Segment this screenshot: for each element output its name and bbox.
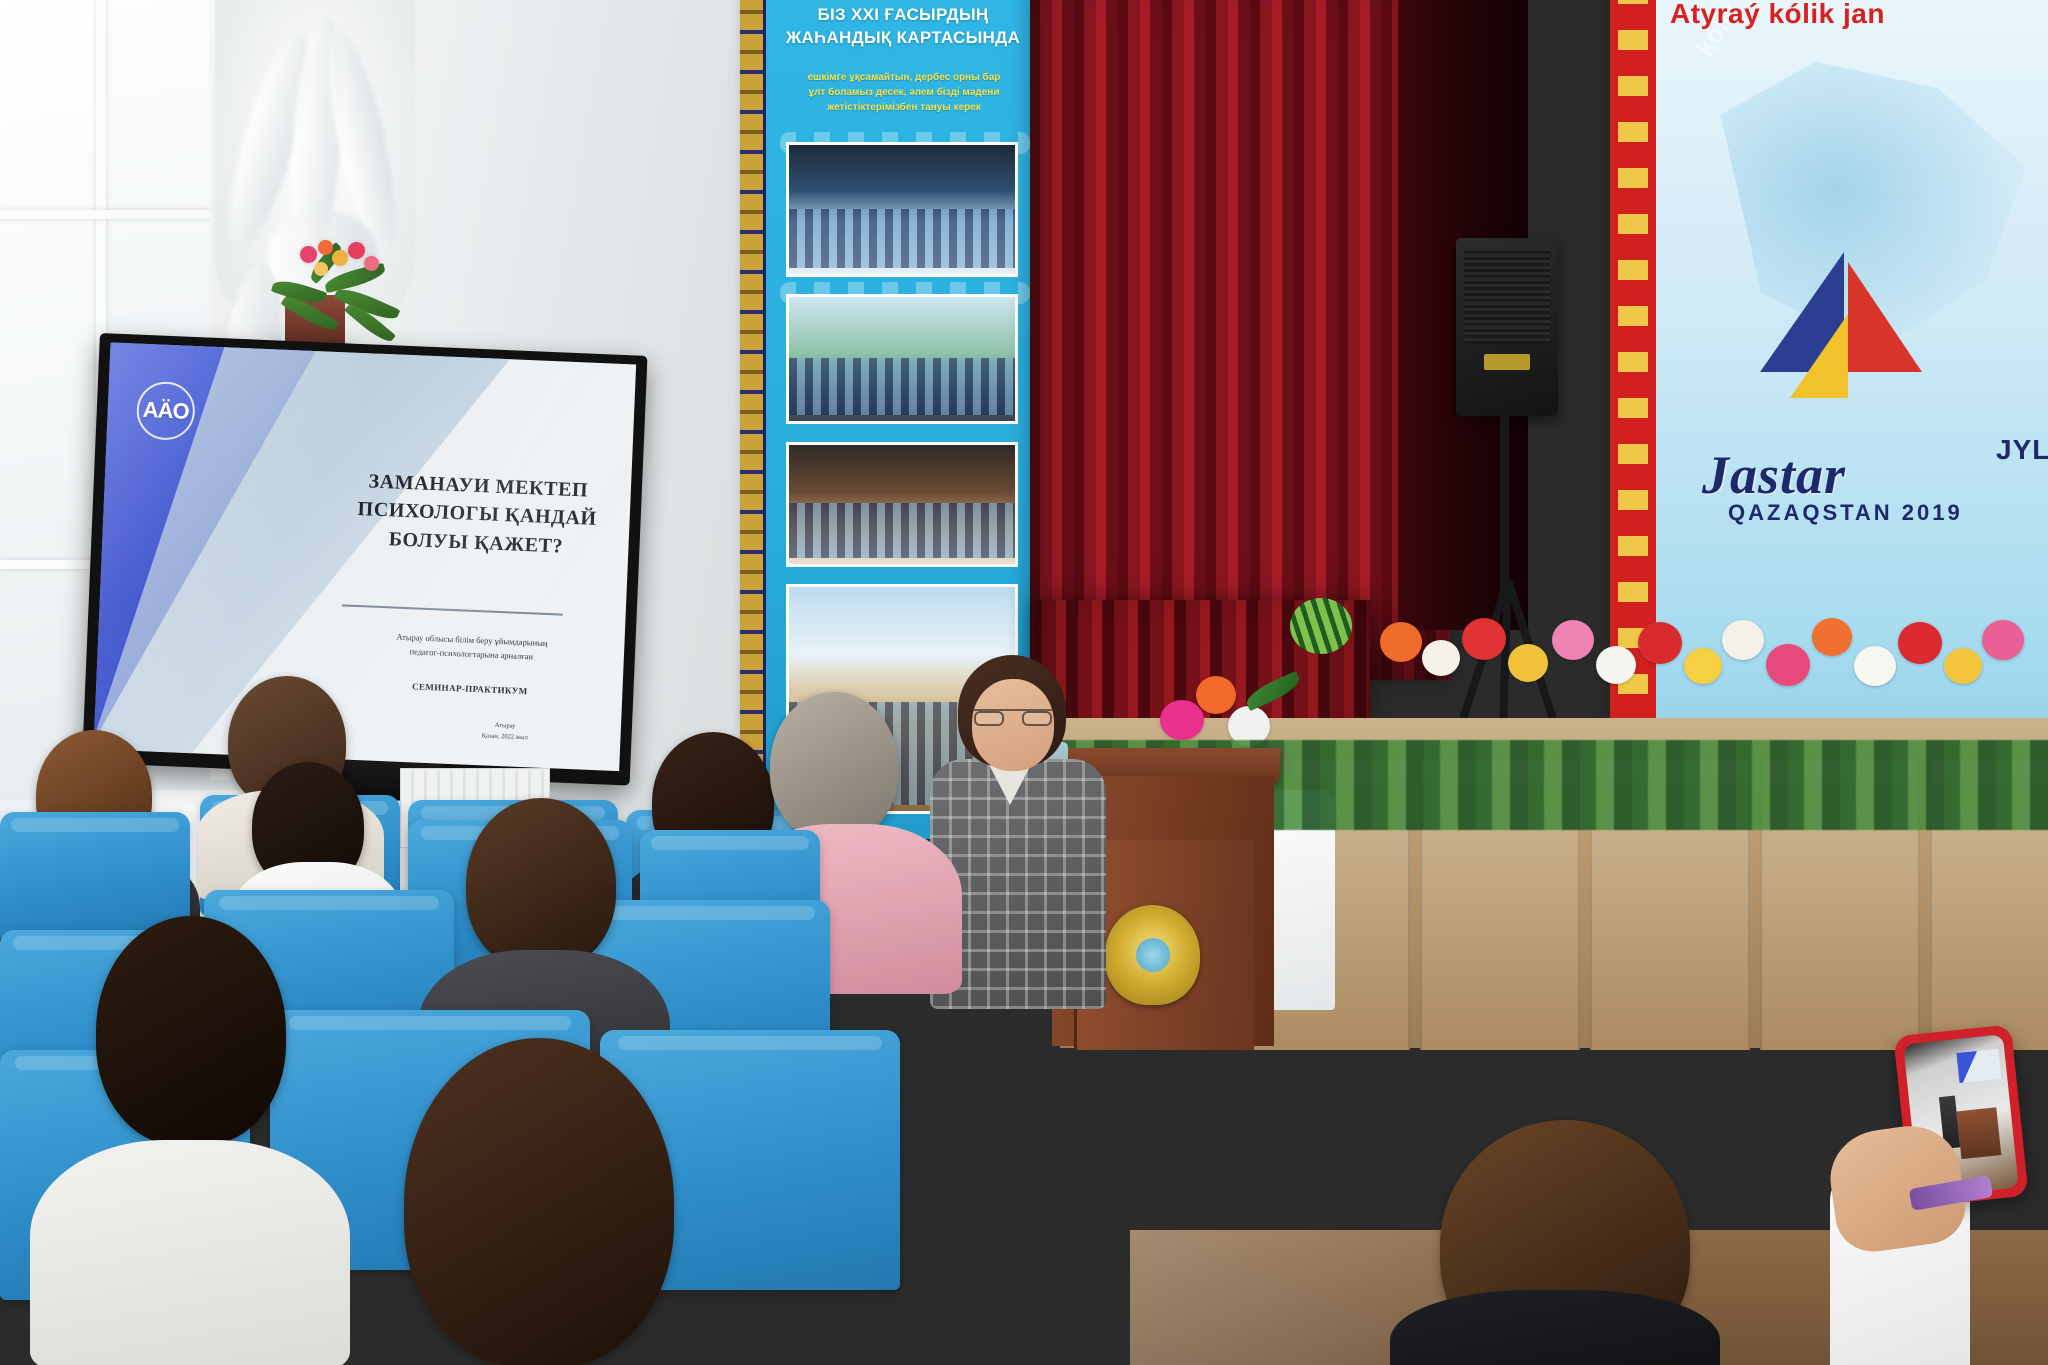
jastar-subtitle: QAZAQSTAN 2019: [1728, 500, 2048, 526]
eyeglasses-icon: [974, 709, 1052, 724]
jastar-wordmark: Jastar: [1702, 444, 2032, 506]
attendee-head: [96, 916, 286, 1146]
speaker-brand-plate: [1484, 354, 1530, 370]
attendee-shoulders: [30, 1140, 350, 1365]
banner-photo-costumes: [786, 442, 1018, 567]
attendee-head: [404, 1038, 674, 1365]
banner-headline-line-1: БІЗ XXI ҒАСЫРДЫҢ: [774, 4, 1032, 27]
logo-triangle-red: [1848, 262, 1922, 372]
phone-screen-slide-preview: [1956, 1049, 2001, 1083]
banner-body-text: ешкімге ұқсамайтын, дербес орны бар ұлт …: [776, 70, 1032, 115]
banner-photo-figures: [789, 358, 1015, 415]
pa-loudspeaker: [1456, 238, 1558, 416]
banner-photo-parade: [786, 142, 1018, 277]
stage-curtain: [1030, 0, 1450, 680]
slide-title: ЗАМАНАУИ МЕКТЕП ПСИХОЛОГЫ ҚАНДАЙ БОЛУЫ Қ…: [334, 466, 621, 563]
slide-subtitle: Атырау облысы білім беру ұйымдарының пед…: [340, 627, 604, 667]
jyly-word: JYLY: [1996, 434, 2048, 466]
potted-plant: [270, 240, 400, 355]
banner-body-line-3: жетістіктерімізбен тануы керек: [776, 100, 1032, 115]
banner-photo-figures: [789, 503, 1015, 558]
speaker-grille: [1464, 248, 1550, 344]
slide-place: Атырау Қазан, 2022 жыл: [410, 718, 600, 747]
banner-headline: БІЗ XXI ҒАСЫРДЫҢ ЖАҺАНДЫҚ КАРТАСЫНДА: [774, 4, 1032, 50]
attendee-shoulders: [1390, 1290, 1720, 1365]
conference-hall-photo: AÄO ЗАМАНАУИ МЕКТЕП ПСИХОЛОГЫ ҚАНДАЙ БОЛ…: [0, 0, 2048, 1365]
banner-headline-line-2: ЖАҺАНДЫҚ КАРТАСЫНДА: [774, 27, 1032, 50]
attendee-head: [466, 798, 616, 970]
slide-event-type: СЕМИНАР-ПРАКТИКУМ: [338, 678, 601, 699]
logo-triangle-yellow: [1790, 314, 1848, 398]
presentation-display[interactable]: AÄO ЗАМАНАУИ МЕКТЕП ПСИХОЛОГЫ ҚАНДАЙ БОЛ…: [82, 333, 648, 786]
banner-top-title: Atyraý kólik jan: [1670, 0, 2048, 30]
banner-photo-figures: [789, 209, 1015, 268]
banner-ornament-strip: [740, 0, 766, 839]
banner-body-line-2: ұлт боламыз десек, әлем бізді мәдени: [776, 85, 1032, 100]
slide-divider: [342, 605, 563, 616]
slide-screen: AÄO ЗАМАНАУИ МЕКТЕП ПСИХОЛОГЫ ҚАНДАЙ БОЛ…: [94, 342, 637, 771]
banner-photo-expo: [786, 294, 1018, 424]
jastar-logo-icon: [1760, 222, 1970, 432]
banner-body-line-1: ешкімге ұқсамайтын, дербес орны бар: [776, 70, 1032, 85]
attendee-head: [770, 692, 898, 840]
phone-screen-podium-preview: [1956, 1107, 2001, 1159]
